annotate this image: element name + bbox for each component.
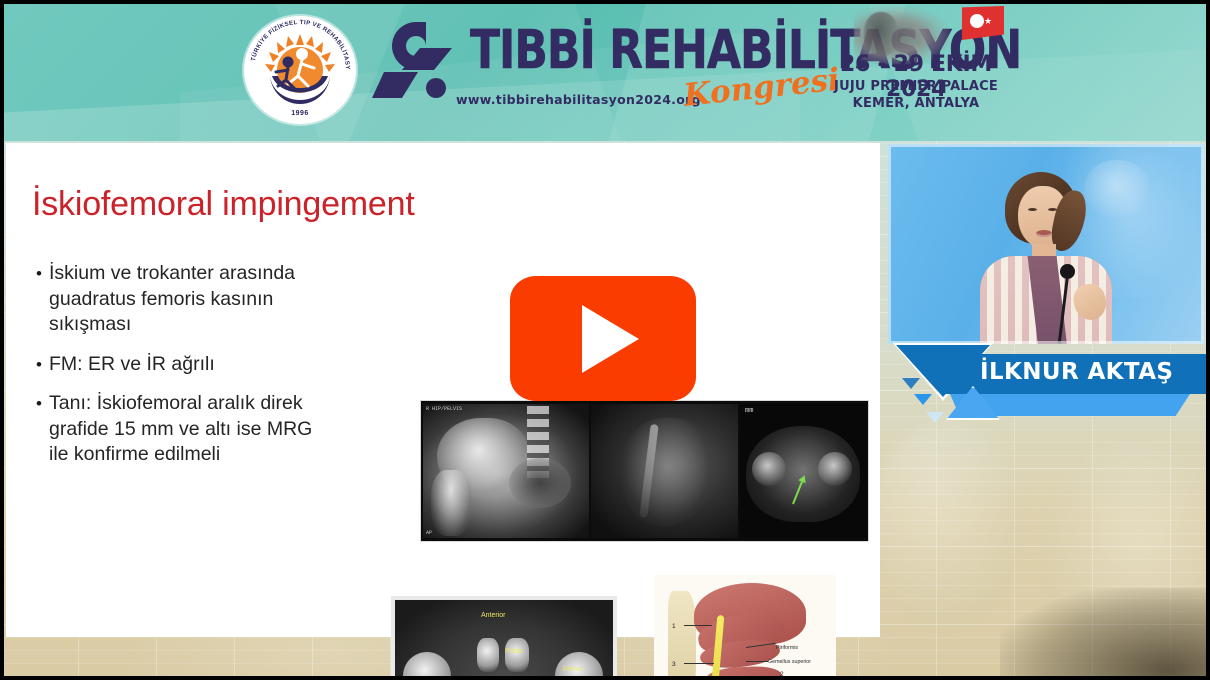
letterbox-top: [0, 0, 1210, 4]
slide-title: İskiofemoral impingement: [32, 185, 415, 224]
letterbox-right: [1206, 0, 1210, 680]
anatomy-leader-7: [684, 663, 714, 664]
anatomy-number-1: 1: [672, 623, 676, 630]
bullet-text: FM: ER ve İR ağrılı: [49, 352, 215, 378]
ct-pubis-right: [505, 638, 529, 672]
congress-city: KEMER, ANTALYA: [822, 96, 1010, 111]
banner-chevron-1-icon: [902, 378, 920, 389]
xray-femur-region: [431, 470, 471, 536]
congress-website: www.tibbirehabilitasyon2024.org: [456, 92, 701, 107]
anatomy-number-3: 3: [672, 661, 676, 668]
background-dark-corner: [1000, 588, 1210, 680]
anatomy-label-gemellus-superior: Gemellus superior: [768, 659, 811, 665]
ct-label-pubis: Pubis: [505, 648, 523, 655]
ct-axial-image: Anterior Pubis Femur IT IFS: [391, 596, 617, 680]
broadcast-stage: TÜRKİYE FİZİKSEL TIP VE REHABİLİTASYON U…: [0, 0, 1210, 680]
speaker-name: İLKNUR AKTAŞ: [980, 359, 1210, 385]
bullet-marker: •: [36, 391, 49, 468]
congress-dates: 26 - 29 EKİM 2024: [828, 52, 1004, 102]
mri-axial-unit-label: mm: [745, 407, 753, 415]
hip-anatomy-illustration: 1 3 4 2 Piriformis Gemellus superior Gem…: [654, 575, 836, 680]
anatomy-leader-6: [684, 625, 712, 626]
bullet-text: Tanı: İskiofemoral aralık direk grafide …: [49, 391, 312, 468]
ct-label-femur: Femur: [563, 666, 583, 673]
banner-chevron-2-icon: [914, 394, 932, 405]
edition-nine-icon: [372, 18, 464, 104]
banner-chevron-3-icon: [926, 412, 944, 423]
ataturk-portrait: [864, 12, 898, 56]
xray-label-bottom: AP: [426, 530, 432, 536]
mri-axial-femur-left: [752, 452, 786, 486]
bullet-marker: •: [36, 261, 49, 338]
list-item: • FM: ER ve İR ağrılı: [36, 352, 396, 378]
bullet-marker: •: [36, 352, 49, 378]
flag-crescent: [970, 14, 984, 28]
association-logo-emblem: [262, 32, 338, 108]
mri-soft-tissue: [621, 418, 713, 526]
letterbox-bottom: [0, 676, 1210, 680]
letterbox-left: [0, 0, 4, 680]
speaker-name-banner: İLKNUR AKTAŞ: [888, 340, 1210, 424]
anatomy-label-piriformis: Piriformis: [776, 645, 798, 651]
list-item: • Tanı: İskiofemoral aralık direk grafid…: [36, 391, 396, 468]
radiology-image-strip: R HIP/PELVIS AP mm: [421, 401, 868, 541]
slide-bullet-list: • İskium ve trokanter arasında guadratus…: [36, 261, 396, 482]
xray-pelvic-cavity: [509, 458, 571, 508]
mri-sagittal-image: [591, 404, 738, 538]
ct-pubis-left: [477, 638, 499, 672]
congress-venue: JUJU PREMIER PALACE: [822, 79, 1010, 94]
congress-header-banner: TÜRKİYE FİZİKSEL TIP VE REHABİLİTASYON U…: [0, 0, 1210, 141]
bullet-text: İskium ve trokanter arasında guadratus f…: [49, 261, 295, 338]
mri-axial-femur-right: [818, 452, 852, 486]
pelvis-xray-image: R HIP/PELVIS AP: [423, 404, 589, 538]
anatomy-leader-2: [746, 661, 768, 662]
association-logo-year: 1996: [244, 110, 356, 117]
flag-star: ★: [984, 17, 992, 26]
association-logo: TÜRKİYE FİZİKSEL TIP VE REHABİLİTASYON U…: [244, 16, 356, 124]
turkish-flag-icon: ★: [962, 6, 1004, 40]
speaker-video-panel: [888, 144, 1204, 344]
ct-label-anterior: Anterior: [481, 612, 506, 619]
list-item: • İskium ve trokanter arasında guadratus…: [36, 261, 396, 338]
video-panel-border: [888, 144, 1204, 344]
play-triangle-icon: [582, 305, 639, 373]
presentation-slide: İskiofemoral impingement • İskium ve tro…: [6, 143, 880, 637]
ct-axial-canvas: Anterior Pubis Femur IT IFS: [395, 600, 613, 680]
xray-label-top: R HIP/PELVIS: [426, 406, 462, 412]
mri-axial-image: mm: [740, 404, 866, 538]
play-button[interactable]: [510, 276, 696, 401]
